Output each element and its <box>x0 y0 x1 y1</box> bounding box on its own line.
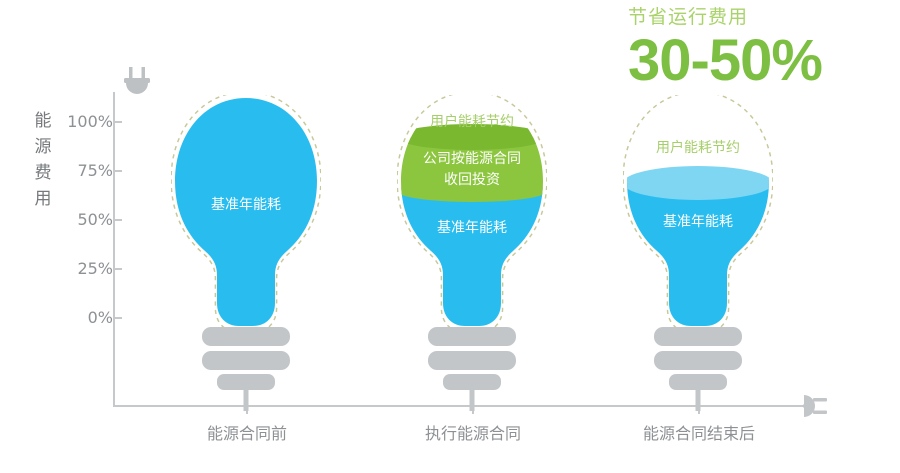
bulb-base-3 <box>653 327 743 405</box>
bulb-graphic-2: 用户能耗节约 公司按能源合同 收回投资 基准年能耗 <box>397 95 547 330</box>
bulb-graphic-3: 用户能耗节约 基准年能耗 <box>623 95 773 330</box>
y-tick-mark <box>113 121 122 123</box>
power-plug-icon <box>800 388 834 424</box>
y-tick-label: 0% <box>5 308 113 327</box>
x-axis-label-2: 执行能源合同 <box>383 420 563 444</box>
base-ring <box>217 374 275 390</box>
headline-subtitle: 节省运行费用 <box>628 4 888 30</box>
bulb-3-save-label: 用户能耗节约 <box>623 137 773 157</box>
base-ring <box>428 351 516 370</box>
power-plug-icon <box>119 67 155 97</box>
base-ring <box>202 351 290 370</box>
infographic-canvas: 节省运行费用 30-50% 能源费用 100% 75% 50% 25% 0% 能… <box>0 0 900 473</box>
bulb-graphic-1: 基准年能耗 <box>171 95 321 330</box>
bulb-base-2 <box>427 327 517 405</box>
y-tick-mark <box>113 170 122 172</box>
y-tick-group: 100% 75% 50% 25% 0% <box>0 0 113 473</box>
y-tick-label: 100% <box>5 112 113 131</box>
y-tick-mark <box>113 317 122 319</box>
x-axis-label-1: 能源合同前 <box>157 420 337 444</box>
base-ring <box>428 327 516 346</box>
bulb-column-2: 用户能耗节约 公司按能源合同 收回投资 基准年能耗 <box>382 95 562 405</box>
base-stem <box>696 389 701 411</box>
bulb-shape-3 <box>623 95 773 330</box>
y-tick-label: 50% <box>5 210 113 229</box>
bulb-base-1 <box>201 327 291 405</box>
base-stem <box>244 389 249 411</box>
base-ring <box>654 351 742 370</box>
y-tick-mark <box>113 219 122 221</box>
bulb-column-1: 基准年能耗 <box>156 95 336 405</box>
y-axis-line <box>113 92 115 406</box>
y-tick-label: 25% <box>5 259 113 278</box>
headline-value: 30-50% <box>628 32 888 90</box>
base-ring <box>443 374 501 390</box>
y-tick-mark <box>113 268 122 270</box>
base-ring <box>654 327 742 346</box>
bulb-2-save-label: 用户能耗节约 <box>397 111 547 131</box>
headline-block: 节省运行费用 30-50% <box>628 4 888 90</box>
x-axis-line <box>113 405 813 407</box>
base-ring <box>202 327 290 346</box>
bulb-column-3: 用户能耗节约 基准年能耗 <box>608 95 788 405</box>
y-tick-label: 75% <box>5 161 113 180</box>
base-ring <box>669 374 727 390</box>
x-axis-label-3: 能源合同结束后 <box>609 420 789 444</box>
base-stem <box>470 389 475 411</box>
bulb-shape-1 <box>171 95 321 330</box>
